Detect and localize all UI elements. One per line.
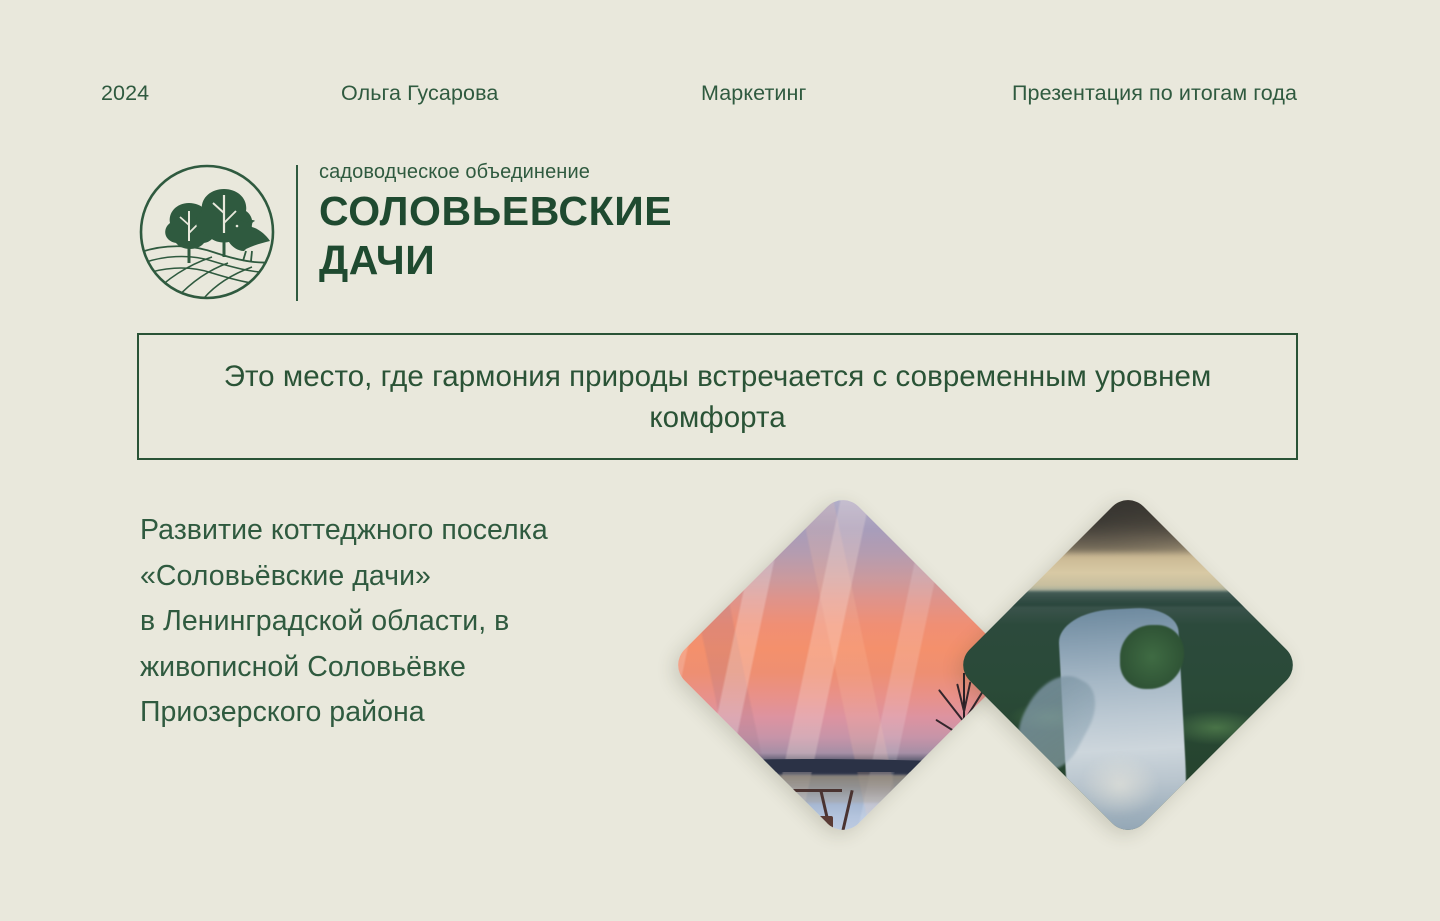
- brand-wordmark: садоводческое объединение СОЛОВЬЕВСКИЕ Д…: [319, 159, 672, 285]
- water-reflection: [1080, 753, 1160, 817]
- body-line-5: Приозерского района: [140, 690, 740, 736]
- header-year: 2024: [101, 78, 149, 108]
- tagline-box: Это место, где гармония природы встречае…: [137, 333, 1298, 460]
- body-line-4: живописной Соловьёвке: [140, 645, 740, 691]
- brand-title-line-2: ДАЧИ: [319, 236, 672, 285]
- body-paragraph: Развитие коттеджного поселка «Соловьёвск…: [140, 508, 740, 736]
- body-line-3: в Ленинградской области, в: [140, 599, 740, 645]
- lake-reeds: [715, 775, 1011, 803]
- brand-title-line-1: СОЛОВЬЕВСКИЕ: [319, 187, 672, 236]
- header-presentation-kind: Презентация по итогам года: [1012, 78, 1297, 108]
- tagline-text: Это место, где гармония природы встречае…: [173, 356, 1262, 438]
- header-department: Маркетинг: [701, 78, 806, 108]
- body-line-2: «Соловьёвские дачи»: [140, 554, 740, 600]
- body-line-1: Развитие коттеджного поселка: [140, 508, 740, 554]
- presentation-slide: 2024 Ольга Гусарова Маркетинг Презентаци…: [0, 0, 1440, 921]
- brand-subtitle: садоводческое объединение: [319, 159, 672, 185]
- garden-swing-bench: [767, 789, 847, 839]
- slide-header-meta: 2024 Ольга Гусарова Маркетинг Презентаци…: [101, 78, 1349, 108]
- garden-circle-emblem-icon: [136, 161, 278, 303]
- photo-aerial-river-forest: [954, 491, 1302, 839]
- header-author: Ольга Гусарова: [341, 78, 498, 108]
- aerial-river-image: [954, 491, 1302, 839]
- storm-clouds: [954, 491, 1302, 553]
- logo-divider: [296, 165, 298, 301]
- far-shoreline: [669, 759, 1017, 772]
